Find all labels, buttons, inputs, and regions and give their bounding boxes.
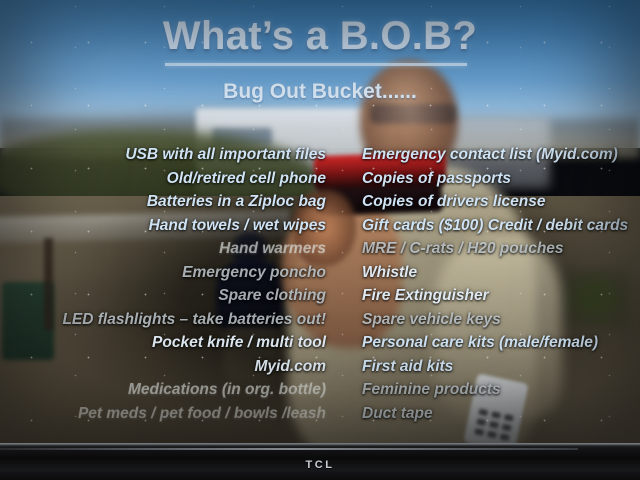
checklist-left-column: USB with all important files Old/retired…	[0, 143, 348, 425]
list-item: Whistle	[358, 261, 640, 285]
tv-brand-logo: TCL	[0, 459, 640, 471]
list-item: Emergency contact list (Myid.com)	[358, 143, 640, 167]
list-item: First aid kits	[358, 355, 640, 379]
slide-subtitle: Bug Out Bucket......	[0, 80, 640, 104]
list-item: Myid.com	[0, 355, 348, 379]
slide-content: What’s a B.O.B? Bug Out Bucket...... USB…	[0, 0, 640, 445]
list-item: Fire Extinguisher	[358, 284, 640, 308]
list-item: Feminine products	[358, 378, 640, 402]
list-item: MRE / C-rats / H20 pouches	[358, 237, 640, 261]
checklist-right-column: Emergency contact list (Myid.com) Copies…	[358, 143, 640, 425]
slide-title: What’s a B.O.B?	[0, 14, 640, 59]
list-item: Hand towels / wet wipes	[0, 214, 348, 238]
list-item: Duct tape	[358, 402, 640, 426]
list-item: Batteries in a Ziploc bag	[0, 190, 348, 214]
list-item: USB with all important files	[0, 143, 348, 167]
list-item: LED flashlights – take batteries out!	[0, 308, 348, 332]
tv-bezel-highlight-2	[0, 448, 578, 450]
list-item: Gift cards ($100) Credit / debit cards	[358, 214, 640, 238]
tv-screen: What’s a B.O.B? Bug Out Bucket...... USB…	[0, 0, 640, 445]
list-item: Spare vehicle keys	[358, 308, 640, 332]
list-item: Copies of passports	[358, 167, 640, 191]
tv-bezel-highlight	[0, 443, 640, 446]
list-item: Copies of drivers license	[358, 190, 640, 214]
list-item: Hand warmers	[0, 237, 348, 261]
list-item: Emergency poncho	[0, 261, 348, 285]
list-item: Medications (in org. bottle)	[0, 378, 348, 402]
list-item: Pet meds / pet food / bowls /leash	[0, 402, 348, 426]
list-item: Personal care kits (male/female)	[358, 331, 640, 355]
list-item: Spare clothing	[0, 284, 348, 308]
list-item: Pocket knife / multi tool	[0, 331, 348, 355]
tv-photo-screenshot: What’s a B.O.B? Bug Out Bucket...... USB…	[0, 0, 640, 480]
title-underline	[165, 63, 467, 66]
list-item: Old/retired cell phone	[0, 167, 348, 191]
